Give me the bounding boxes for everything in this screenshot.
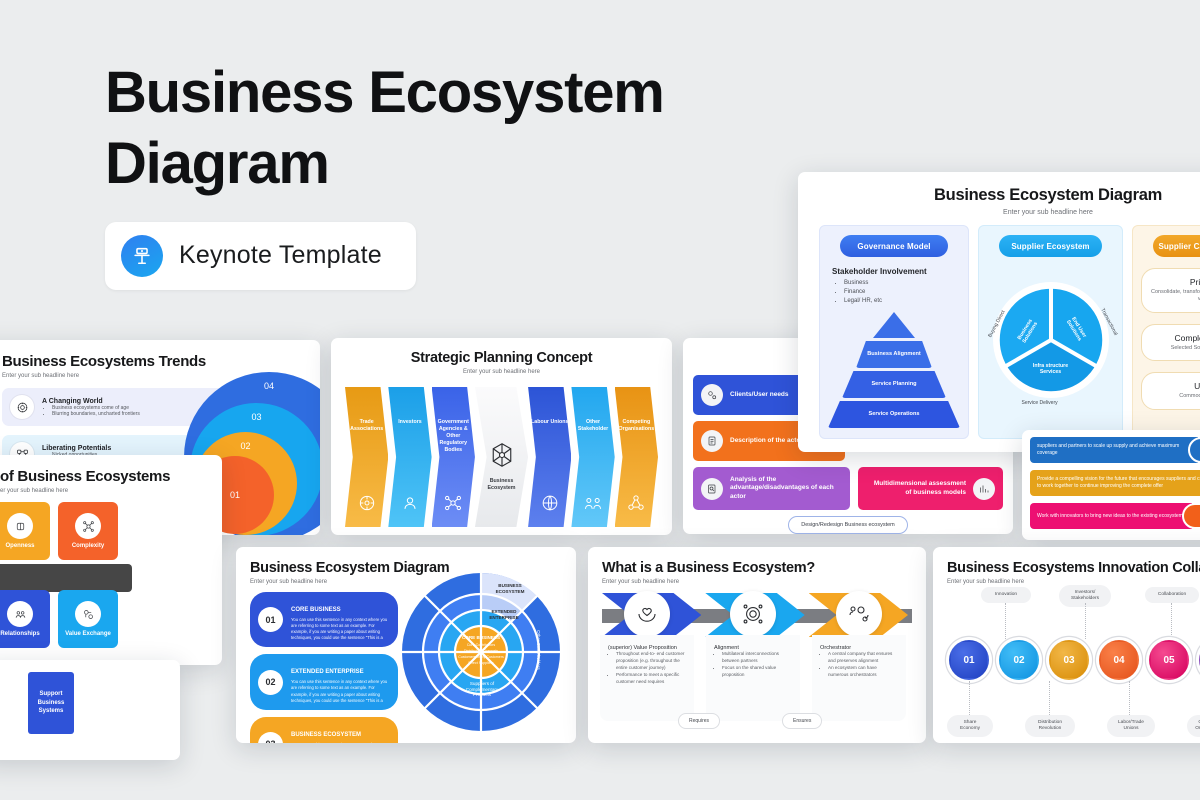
wheel-mid-label: EXTENDED ENTERPRISE: [482, 609, 526, 620]
category-desc: Consolidate, transform and deliver busin…: [1146, 289, 1200, 304]
bed-item-number: 03: [258, 732, 283, 743]
connector-line: [969, 681, 970, 715]
caption-share-economy: Share Economy: [947, 715, 993, 737]
category-desc: Selected Solution Providers: [1146, 345, 1200, 352]
category-complementary[interactable]: Complementary Selected Solution Provider…: [1141, 324, 1200, 361]
globe-icon: [540, 493, 560, 513]
category-desc: Commodity Services: [1146, 393, 1200, 400]
core-card-relationships[interactable]: Relationships: [0, 590, 50, 648]
chevron-competing-organisations[interactable]: Competing Organisations: [615, 387, 658, 527]
category-utility[interactable]: Utility Commodity Services: [1141, 372, 1200, 409]
wheel-inner-segment: Suppliers of Complementary Products: [458, 681, 506, 698]
bed-item-heading: BUSINESS ECOSYSTEM: [291, 732, 361, 738]
slide-what-is-a-business-ecosystem[interactable]: What is a Business Ecosystem? Enter your…: [588, 547, 926, 743]
card-multidimensional-assessment[interactable]: Multidimensional assessment of business …: [858, 467, 1003, 510]
wheel-core-label: CORE BUSINESS: [457, 635, 505, 641]
network-hub-icon: [730, 591, 776, 637]
core-card-label: Value Exchange: [65, 631, 111, 637]
keynote-podium-icon: [121, 235, 163, 277]
caption-collaboration: Collaboration: [1145, 587, 1199, 603]
hero-block: Business Ecosystem Diagram Keynote Templ…: [105, 58, 725, 290]
role-row-leadership[interactable]: Provide a compelling vision for the futu…: [1030, 470, 1200, 496]
bed-item-body: You can use this sentence in any context…: [291, 679, 390, 703]
column-governance-model: Governance Model Stakeholder Involvement…: [819, 225, 969, 439]
poster-canvas: Business Ecosystem Diagram Keynote Templ…: [0, 0, 1200, 800]
chevron-row: Trade Associations Investors Government …: [345, 387, 658, 527]
bed-item-core-business[interactable]: 01 CORE BUSINESS You can use this senten…: [250, 592, 398, 647]
wheel-outer-label: BUSINESS ECOSYSTEM: [486, 583, 534, 594]
support-business-systems-block: Support Business Systems: [28, 672, 74, 734]
slide-business-ecosystem-diagram-top[interactable]: Business Ecosystem Diagram Enter your su…: [798, 172, 1200, 452]
wheel-core-line: Direct Suppliers: [455, 661, 507, 665]
pill-supplier-categorization[interactable]: Supplier Categorization: [1153, 235, 1200, 257]
wheel-core-line: Distribution Channels: [455, 649, 507, 653]
wheel-core-line: Core Contributors: [455, 643, 507, 647]
node-02[interactable]: 02: [999, 640, 1039, 680]
slide-innovation-collaboration[interactable]: Business Ecosystems Innovation Collabora…: [933, 547, 1200, 743]
bed-item-heading: CORE BUSINESS: [291, 607, 341, 613]
core-center-bar: INESS ECOSYSTEM: [0, 564, 132, 592]
connector-line: [1085, 603, 1086, 639]
chevron-other-stakeholder[interactable]: Other Stakeholder: [571, 387, 614, 527]
slide-partial-support-business-systems[interactable]: Support Business Systems: [0, 660, 180, 760]
donut-segment-infra-structure-services: Infra structure Services: [1028, 363, 1074, 375]
column-supplier-categorization: Supplier Categorization Primary Consolid…: [1132, 225, 1200, 439]
slide-core-of-business-ecosystems[interactable]: of Business Ecosystems er your sub headl…: [0, 455, 222, 665]
slide-subtitle: Enter your sub headline here: [602, 579, 926, 585]
chevron-government-agencies[interactable]: Government Agencies & Other Regulatory B…: [432, 387, 475, 527]
node-04[interactable]: 04: [1099, 640, 1139, 680]
connector-line: [1129, 681, 1130, 715]
chevron-investors[interactable]: Investors: [388, 387, 431, 527]
connector-ensures: Ensures: [782, 713, 822, 729]
gear-network-icon: [10, 395, 34, 419]
wheel-outer-segment: Other Stakeholders: [535, 630, 541, 670]
slide-title: Strategic Planning Concept: [331, 350, 672, 366]
slide-title: Business Ecosystems Innovation Collabora…: [947, 560, 1200, 576]
chevron-label: Labour Unions: [531, 419, 568, 426]
bed-item-number: 01: [258, 607, 283, 632]
card-label: Description of the actors: [730, 437, 807, 445]
core-card-label: Relationships: [0, 631, 39, 637]
brain-icon: [7, 513, 33, 539]
core-cards-grid: Openness Complexity INESS ECOSYSTEM Rela…: [0, 502, 222, 647]
hands-heart-icon: [624, 591, 670, 637]
bed-item-heading: EXTENDED ENTERPRISE: [291, 669, 364, 675]
pill-supplier-ecosystem[interactable]: Supplier Ecosystem: [999, 235, 1102, 257]
pyramid-level-service-planning: Service Planning: [842, 371, 946, 398]
people-gear-icon: [836, 591, 882, 637]
role-row-self-renewal[interactable]: Work with innovators to bring new ideas …: [1030, 503, 1200, 529]
network-circle-icon: [357, 493, 377, 513]
panel-value-proposition: (superior) Value Proposition Throughout …: [600, 635, 694, 721]
trend-bullet: Blurring boundaries, uncharted frontiers: [52, 411, 140, 417]
connector-requires: Requires: [678, 713, 720, 729]
pyramid-apex: [873, 312, 915, 338]
donut-svg: [988, 277, 1114, 403]
pyramid-level-business-alignment: Business Alignment: [856, 341, 932, 368]
bed-item-body: You can use this sentence in any context…: [291, 617, 390, 641]
share-nodes-icon: [443, 493, 463, 513]
panel-alignment: Alignment Multilateral interconnections …: [706, 635, 800, 721]
panel-bullet: An ecosystem can have numerous orchestra…: [828, 665, 898, 679]
badge-label: Keynote Template: [179, 241, 382, 270]
card-pair: Analysis of the advantage/disadvantages …: [693, 467, 1003, 510]
category-primary[interactable]: Primary Consolidate, transform and deliv…: [1141, 268, 1200, 313]
core-card-label: Complexity: [72, 543, 104, 549]
stakeholder-bullet: Business: [844, 280, 960, 286]
slide-ecosystem-roles[interactable]: suppliers and partners to scale up suppl…: [1022, 430, 1200, 540]
panel-bullet: Multilateral interconnections between pa…: [722, 651, 792, 665]
chevron-labour-unions[interactable]: Labour Unions: [528, 387, 571, 527]
exchange-icon: [75, 601, 101, 627]
role-row-expansion[interactable]: suppliers and partners to scale up suppl…: [1030, 437, 1200, 463]
center-pill-design-redesign: Design/Redesign Business ecosystem: [788, 516, 908, 534]
cube-network-icon: [487, 440, 517, 470]
bed-item-extended-enterprise[interactable]: 02 EXTENDED ENTERPRISE You can use this …: [250, 654, 398, 709]
panel-bullet: Throughout end-to- end customer proposit…: [616, 651, 686, 672]
core-card-openness[interactable]: Openness: [0, 502, 50, 560]
panel-bullet: Performance to meet a specific customer …: [616, 672, 686, 686]
trend-heading: Liberating Potentials: [42, 445, 111, 452]
page-title-line1: Business Ecosystem: [105, 58, 725, 129]
slide-subtitle: Enter your sub headline here: [331, 369, 672, 375]
slide-title: of Business Ecosystems: [0, 468, 222, 485]
core-card-value-exchange[interactable]: Value Exchange: [58, 590, 118, 648]
bed-item-business-ecosystem[interactable]: 03 BUSINESS ECOSYSTEM You can use this s…: [250, 717, 398, 743]
people-gear-icon: [400, 493, 420, 513]
slide-subtitle: er your sub headline here: [0, 488, 222, 494]
chevron-hub-business-ecosystem[interactable]: Business Ecosystem: [475, 387, 528, 527]
keynote-template-badge[interactable]: Keynote Template: [105, 222, 416, 290]
slide-title: What is a Business Ecosystem?: [602, 560, 926, 576]
node-01[interactable]: 01: [949, 640, 989, 680]
stakeholder-bullet: Finance: [844, 289, 960, 295]
page-title-line2: Diagram: [105, 129, 725, 200]
search-doc-icon: [701, 478, 723, 500]
connect-icon: [626, 493, 646, 513]
core-card-label: Openness: [5, 543, 34, 549]
complexity-icon: [75, 513, 101, 539]
connector-line: [1005, 603, 1006, 639]
pill-governance-model[interactable]: Governance Model: [840, 235, 948, 257]
gears-icon: [701, 384, 723, 406]
core-card-complexity[interactable]: Complexity: [58, 502, 118, 560]
connector-line: [1049, 681, 1050, 715]
slide-title: Business Ecosystem Diagram: [798, 186, 1200, 205]
category-title: Utility: [1146, 381, 1200, 391]
stakeholder-bullet: Legal/ HR, etc: [844, 298, 960, 304]
card-label: Multidimensional assessment of business …: [866, 480, 966, 497]
card-label: Analysis of the advantage/disadvantages …: [730, 476, 842, 501]
chevron-trade-associations[interactable]: Trade Associations: [345, 387, 388, 527]
bed-item-number: 02: [258, 670, 283, 695]
column-supplier-ecosystem: Supplier Ecosystem Business Solutions En…: [978, 225, 1123, 439]
chevron-label: Investors: [398, 419, 422, 426]
panel-bullet: Focus on the shared value proposition: [722, 665, 792, 679]
category-title: Primary: [1146, 277, 1200, 287]
connector-line: [1171, 603, 1172, 639]
bed-item-body: You can use this sentence in any context…: [291, 742, 390, 743]
role-text: Work with innovators to bring new ideas …: [1030, 503, 1192, 529]
pyramid-level-service-operations: Service Operations: [828, 401, 960, 428]
chevron-label: Government Agencies & Other Regulatory B…: [434, 419, 473, 453]
columns-row: Governance Model Stakeholder Involvement…: [798, 216, 1200, 451]
role-text: Provide a compelling vision for the futu…: [1030, 470, 1200, 496]
chevron-label: Trade Associations: [347, 419, 386, 433]
slide-subtitle: Enter your sub headline here: [798, 209, 1200, 216]
timeline-nodes: 01 02 03 04 05 06 07: [949, 640, 1200, 680]
caption-labor-trade-unions: Labor/Trade Unions: [1107, 715, 1155, 737]
caption-competing-organisations: Competing Organisations: [1187, 715, 1200, 737]
card-analysis-advantages[interactable]: Analysis of the advantage/disadvantages …: [693, 467, 850, 510]
wheel-core-line: Customers of My Customers: [455, 655, 507, 659]
node-03[interactable]: 03: [1049, 640, 1089, 680]
team-icon: [583, 493, 603, 513]
category-title: Complementary: [1146, 333, 1200, 343]
chevron-label: Other Stakeholder: [573, 419, 612, 433]
concentric-wheel-chart: BUSINESS ECOSYSTEM EXTENDED ENTERPRISE C…: [400, 571, 562, 733]
page-title: Business Ecosystem Diagram: [105, 58, 725, 200]
role-text: suppliers and partners to scale up suppl…: [1030, 437, 1198, 463]
panel-bullet: A central company that ensures and prese…: [828, 651, 898, 665]
pyramid-chart: Business Alignment Service Planning Serv…: [828, 312, 960, 428]
chevron-label: Competing Organisations: [617, 419, 656, 433]
trend-bullet: Business ecosystems come of age: [52, 405, 140, 411]
caption-distribution-revolution: Distribution Revolution: [1025, 715, 1075, 737]
donut-chart: Business Solutions End User Solutions In…: [988, 277, 1114, 403]
node-05[interactable]: 05: [1149, 640, 1189, 680]
slide-strategic-planning-concept[interactable]: Strategic Planning Concept Enter your su…: [331, 338, 672, 535]
panel-orchestrator: Orchestrator A central company that ensu…: [812, 635, 906, 721]
slide-business-ecosystem-diagram-bottom[interactable]: Business Ecosystem Diagram Enter your su…: [236, 547, 576, 743]
clipboard-icon: [701, 430, 723, 452]
trend-heading: A Changing World: [42, 398, 140, 405]
chevron-label: Business Ecosystem: [477, 478, 526, 492]
stakeholder-heading: Stakeholder Involvement: [832, 267, 960, 276]
caption-innovation: Innovation: [981, 587, 1031, 603]
donut-caption-service-delivery: Service Delivery: [1022, 400, 1058, 406]
people-icon: [7, 601, 33, 627]
chart-icon: [973, 478, 995, 500]
card-label: Clients/User needs: [730, 391, 789, 399]
